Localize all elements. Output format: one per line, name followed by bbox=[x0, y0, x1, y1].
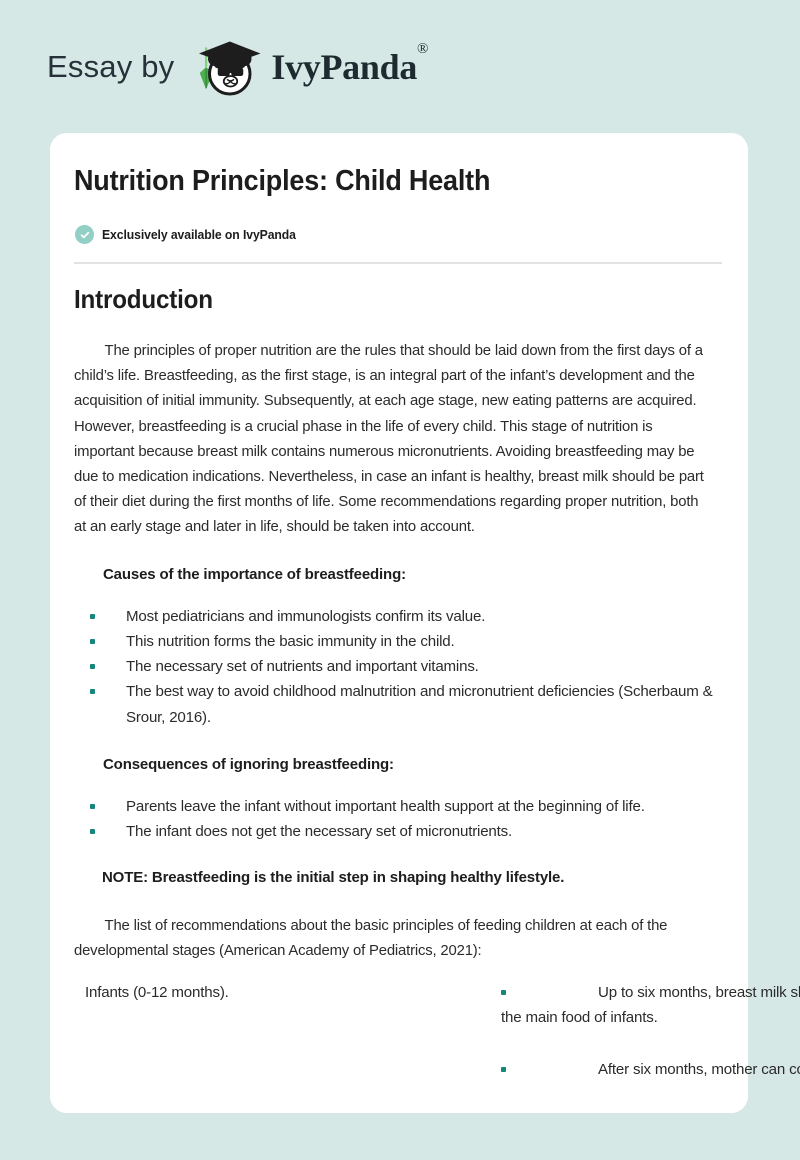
exclusivity-badge-label: Exclusively available on IvyPanda bbox=[102, 227, 296, 242]
recommendations-paragraph: The list of recommendations about the ba… bbox=[74, 913, 712, 963]
ivypanda-wordmark: IvyPanda® bbox=[271, 49, 428, 85]
list-item: Up to six months, breast milk should be … bbox=[501, 980, 800, 1030]
panda-graduate-logo-icon bbox=[188, 34, 264, 100]
ivypanda-logo[interactable]: IvyPanda® bbox=[188, 34, 428, 100]
stage-item-line1: After six months, mother can continue bbox=[598, 1061, 800, 1078]
consequences-list: Parents leave the infant without importa… bbox=[74, 794, 722, 844]
stage-table: Infants (0-12 months). Up to six months,… bbox=[74, 980, 800, 1083]
registered-trademark-mark: ® bbox=[417, 41, 428, 57]
page-header: Essay by bbox=[0, 0, 800, 133]
list-item: The infant does not get the necessary se… bbox=[74, 819, 722, 844]
intro-paragraph: The principles of proper nutrition are t… bbox=[74, 338, 712, 540]
list-item: This nutrition forms the basic immunity … bbox=[74, 629, 722, 654]
consequences-heading: Consequences of ignoring breastfeeding: bbox=[74, 752, 722, 777]
causes-heading: Causes of the importance of breastfeedin… bbox=[74, 562, 722, 587]
ivypanda-wordmark-text: IvyPanda bbox=[271, 47, 417, 87]
stage-recommendations: Up to six months, breast milk should be … bbox=[501, 980, 800, 1083]
stage-label-infants: Infants (0-12 months). bbox=[74, 980, 501, 1005]
section-heading-introduction: Introduction bbox=[74, 284, 213, 315]
essay-content: The principles of proper nutrition are t… bbox=[74, 338, 722, 963]
stage-bullet-list: Up to six months, breast milk should be … bbox=[501, 980, 800, 1083]
note-text: NOTE: Breastfeeding is the initial step … bbox=[74, 865, 722, 890]
list-item: The best way to avoid childhood malnutri… bbox=[74, 679, 722, 729]
list-item: Most pediatricians and immunologists con… bbox=[74, 604, 722, 629]
essay-by-label: Essay by bbox=[47, 51, 174, 82]
header-lockup: Essay by bbox=[47, 34, 428, 100]
stage-item-line2: the main food of infants. bbox=[501, 1005, 800, 1030]
essay-card: Nutrition Principles: Child Health Exclu… bbox=[50, 133, 748, 1113]
table-row: Infants (0-12 months). Up to six months,… bbox=[74, 980, 800, 1083]
title-divider bbox=[74, 262, 722, 264]
page-title: Nutrition Principles: Child Health bbox=[74, 165, 688, 198]
causes-list: Most pediatricians and immunologists con… bbox=[74, 604, 722, 730]
check-circle-icon bbox=[75, 225, 94, 244]
list-item: The necessary set of nutrients and impor… bbox=[74, 654, 722, 679]
exclusivity-badge: Exclusively available on IvyPanda bbox=[75, 225, 308, 244]
stage-item-line1: Up to six months, breast milk should be bbox=[598, 984, 800, 1001]
list-item: Parents leave the infant without importa… bbox=[74, 794, 722, 819]
list-item: After six months, mother can continue bbox=[501, 1057, 800, 1082]
